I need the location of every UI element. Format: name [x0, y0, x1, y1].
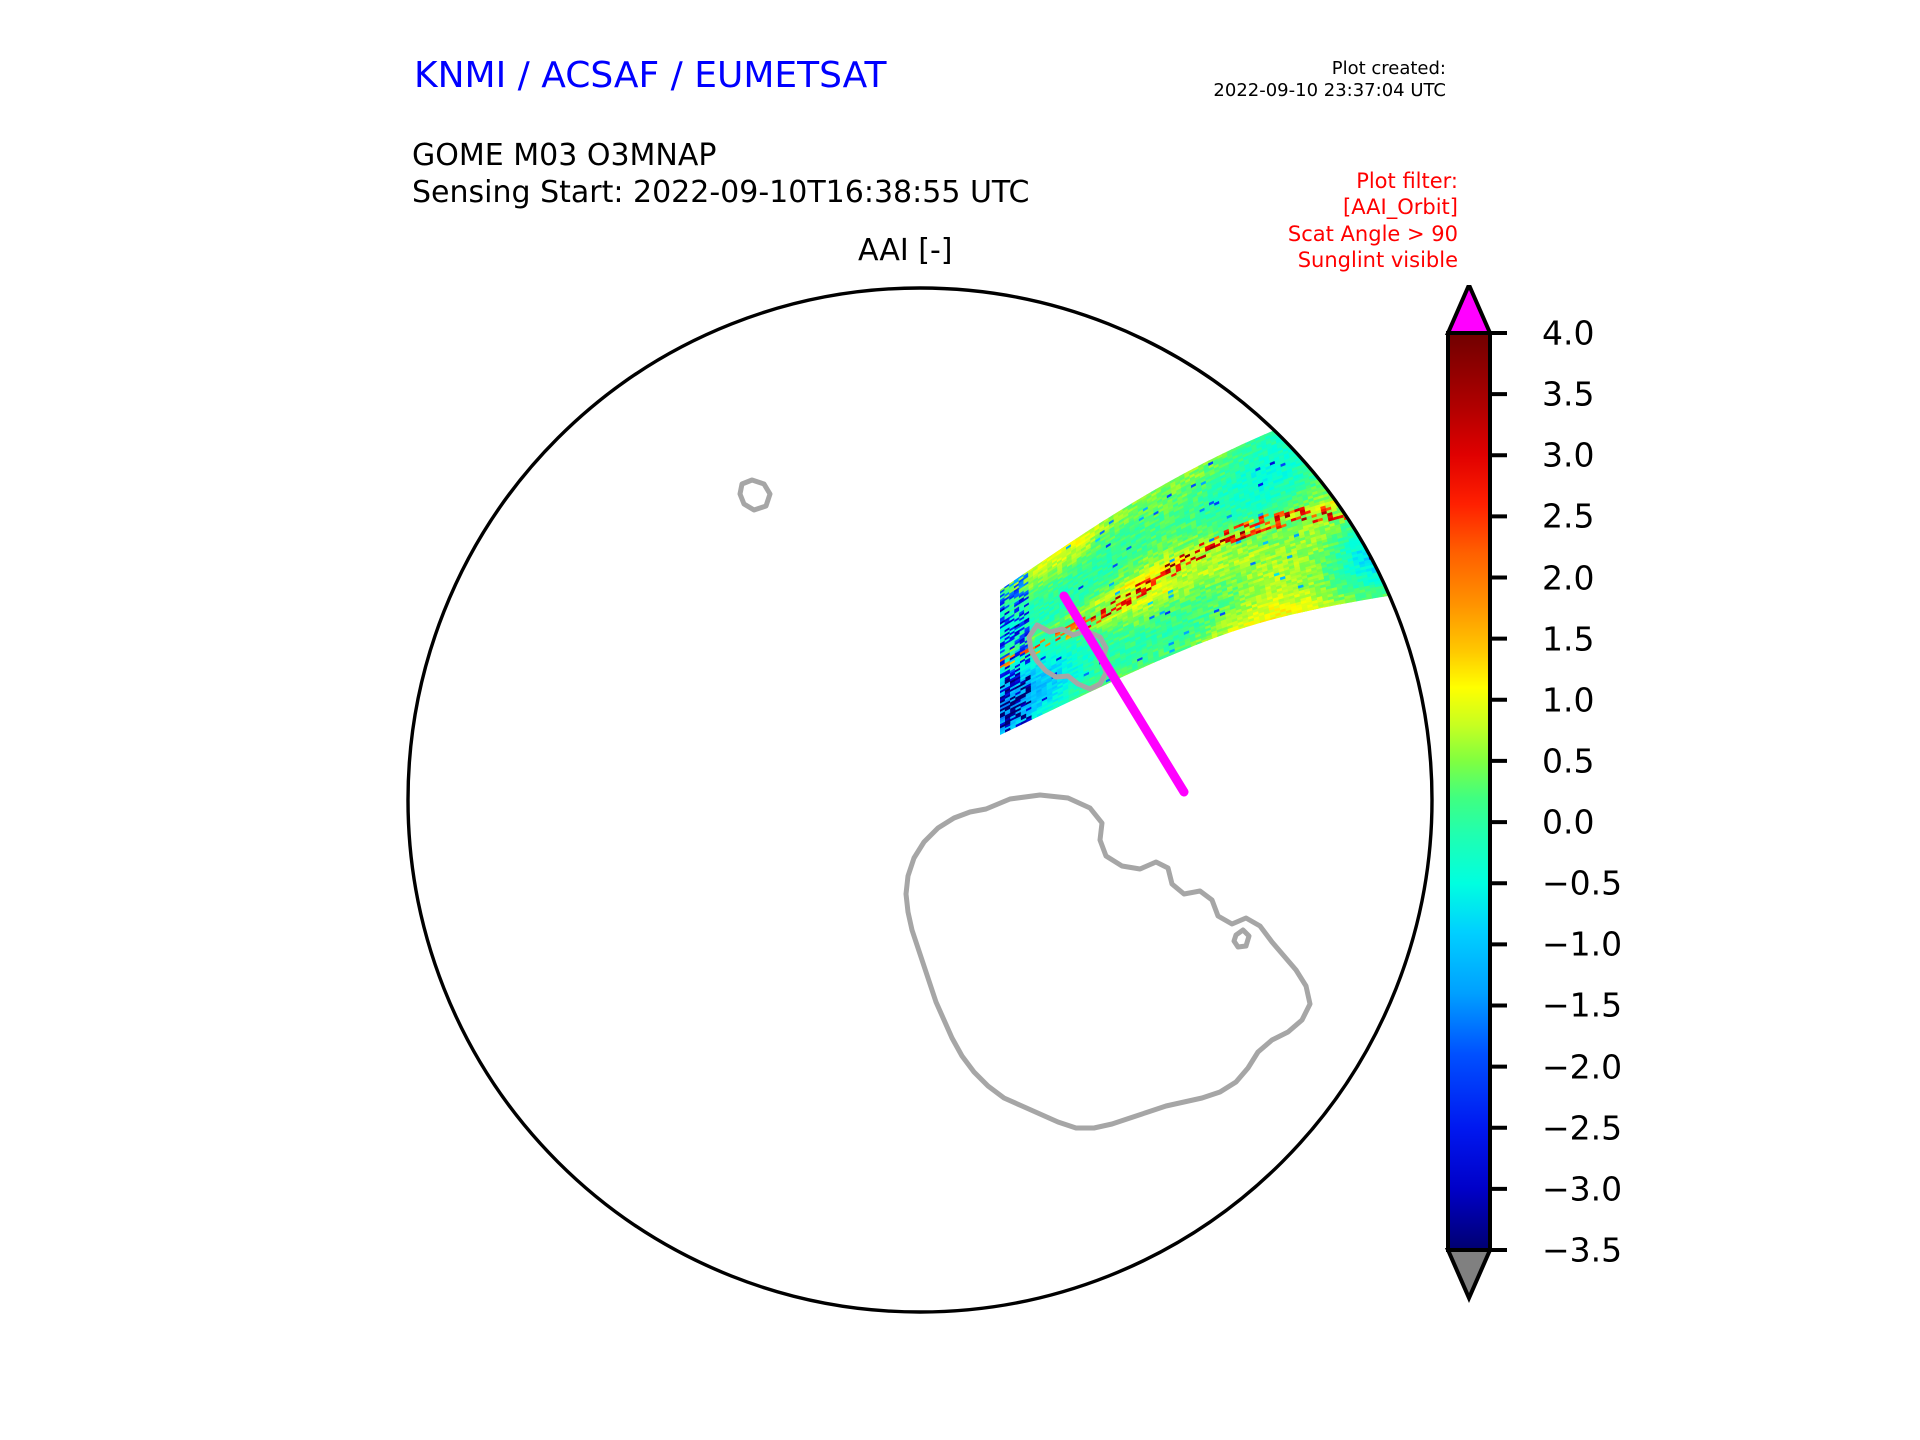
colorbar-tick-label: 4.0	[1542, 314, 1594, 353]
colorbar-tick-label: 0.0	[1542, 803, 1594, 842]
colorbar-tick-label: 1.5	[1542, 619, 1594, 658]
agency-title: KNMI / ACSAF / EUMETSAT	[414, 55, 886, 96]
map-background	[400, 280, 1440, 1320]
plot-created-value: 2022-09-10 23:37:04 UTC	[1213, 80, 1446, 102]
colorbar-tick-label: −3.5	[1542, 1231, 1622, 1270]
filter-title: Plot filter:	[1288, 168, 1458, 194]
filter-line-3: Sunglint visible	[1288, 247, 1458, 273]
colorbar-tick-label: 2.5	[1542, 497, 1594, 536]
plot-canvas: KNMI / ACSAF / EUMETSAT Plot created: 20…	[0, 0, 1920, 1440]
colorbar-tick-labels: 4.03.53.02.52.01.51.00.50.0−0.5−1.0−1.5−…	[1542, 285, 1782, 1345]
colorbar-ticks	[1490, 333, 1507, 1250]
filter-line-1: [AAI_Orbit]	[1288, 194, 1458, 220]
plot-created-block: Plot created: 2022-09-10 23:37:04 UTC	[1213, 58, 1446, 102]
colorbar-tick-label: −3.0	[1542, 1169, 1622, 1208]
instrument-title: GOME M03 O3MNAP	[412, 138, 1029, 175]
map-svg	[400, 280, 1440, 1320]
coast-island-small-b	[643, 1242, 660, 1259]
colorbar-tick-label: 3.5	[1542, 375, 1594, 414]
filter-line-2: Scat Angle > 90	[1288, 221, 1458, 247]
colorbar-tick-label: 0.5	[1542, 741, 1594, 780]
polar-map	[400, 280, 1440, 1320]
quantity-title: AAI [-]	[858, 233, 953, 268]
sensing-start-title: Sensing Start: 2022-09-10T16:38:55 UTC	[412, 175, 1029, 212]
colorbar-tick-label: −0.5	[1542, 864, 1622, 903]
colorbar-tick-label: −2.5	[1542, 1108, 1622, 1147]
colorbar-gradient	[1448, 333, 1490, 1250]
colorbar-body	[1448, 285, 1490, 1298]
colorbar-tick-label: 3.0	[1542, 436, 1594, 475]
colorbar-tick-label: −1.0	[1542, 925, 1622, 964]
colorbar-tick-label: −2.0	[1542, 1047, 1622, 1086]
plot-created-label: Plot created:	[1213, 58, 1446, 80]
plot-filter-block: Plot filter: [AAI_Orbit] Scat Angle > 90…	[1288, 168, 1458, 273]
map-contents	[400, 280, 1440, 1320]
colorbar-tick-label: −1.5	[1542, 986, 1622, 1025]
plot-title-block: GOME M03 O3MNAP Sensing Start: 2022-09-1…	[412, 138, 1029, 211]
colorbar-tick-label: 2.0	[1542, 558, 1594, 597]
colorbar: 4.03.53.02.52.01.51.00.50.0−0.5−1.0−1.5−…	[1440, 285, 1860, 1345]
colorbar-tick-label: 1.0	[1542, 680, 1594, 719]
colorbar-under-range-arrow	[1448, 1250, 1490, 1298]
colorbar-over-range-arrow	[1448, 285, 1490, 333]
